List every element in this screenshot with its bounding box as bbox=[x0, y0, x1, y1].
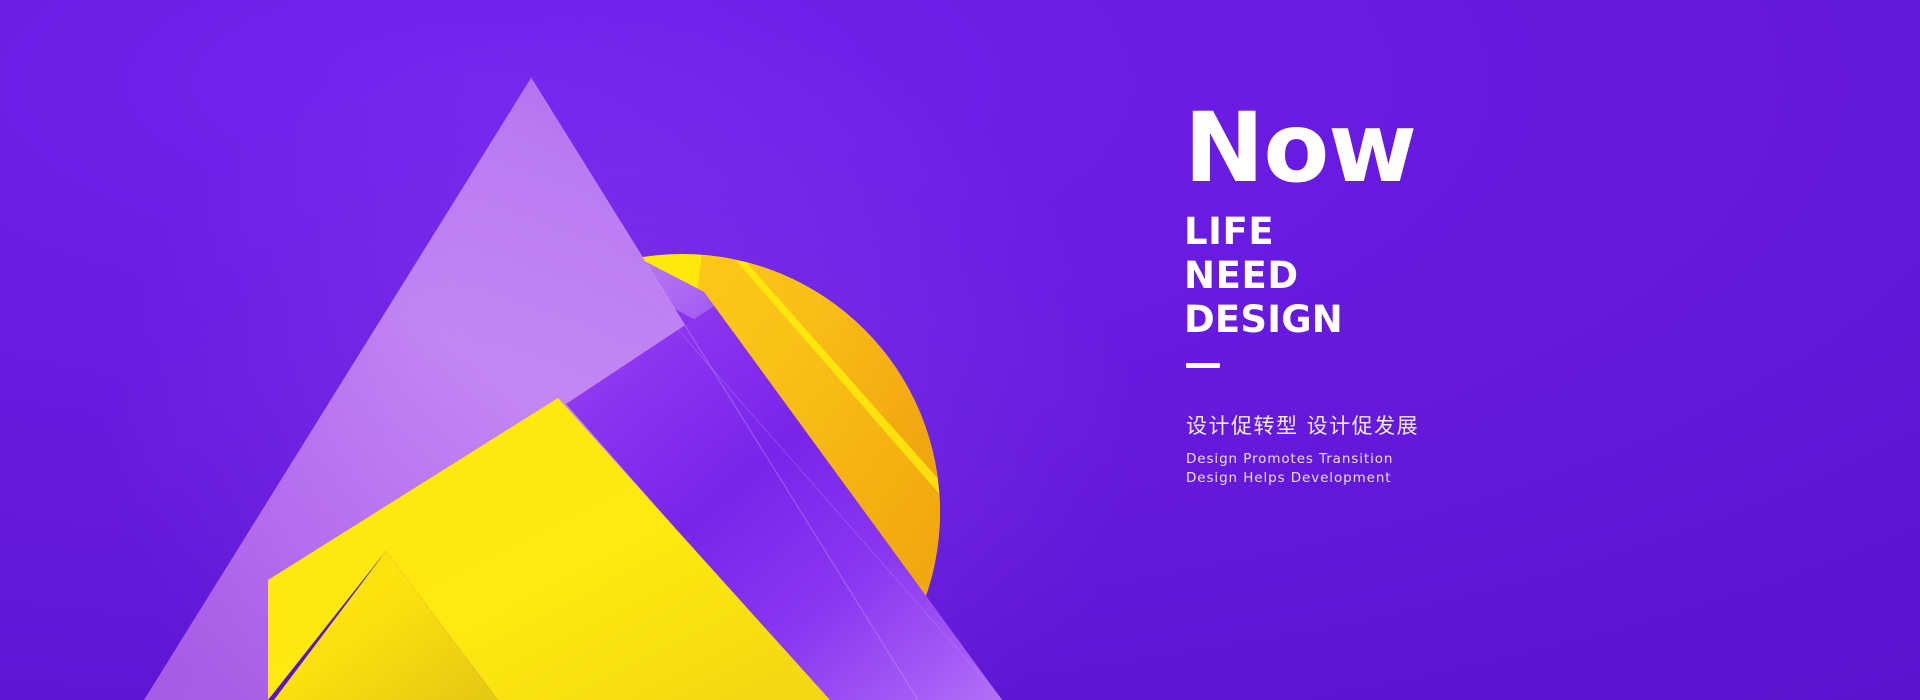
tagline-chinese: 设计促转型 设计促发展 bbox=[1186, 410, 1604, 440]
tagline-english: Design Promotes Transition Design Helps … bbox=[1186, 450, 1604, 488]
hero-copy-block: Now LIFE NEED DESIGN 设计促转型 设计促发展 Design … bbox=[1184, 104, 1604, 489]
tagline-english-line-1: Design Promotes Transition bbox=[1186, 450, 1604, 469]
stack-line-life: LIFE bbox=[1184, 210, 1604, 254]
stack-line-need: NEED bbox=[1184, 254, 1604, 298]
white-rule-divider bbox=[1186, 363, 1220, 368]
tagline-english-line-2: Design Helps Development bbox=[1186, 469, 1604, 488]
hero-banner: Now LIFE NEED DESIGN 设计促转型 设计促发展 Design … bbox=[0, 0, 1920, 700]
headline-now: Now bbox=[1184, 104, 1604, 192]
abstract-geometric-artwork bbox=[0, 0, 1920, 700]
stack-line-design: DESIGN bbox=[1184, 298, 1604, 342]
